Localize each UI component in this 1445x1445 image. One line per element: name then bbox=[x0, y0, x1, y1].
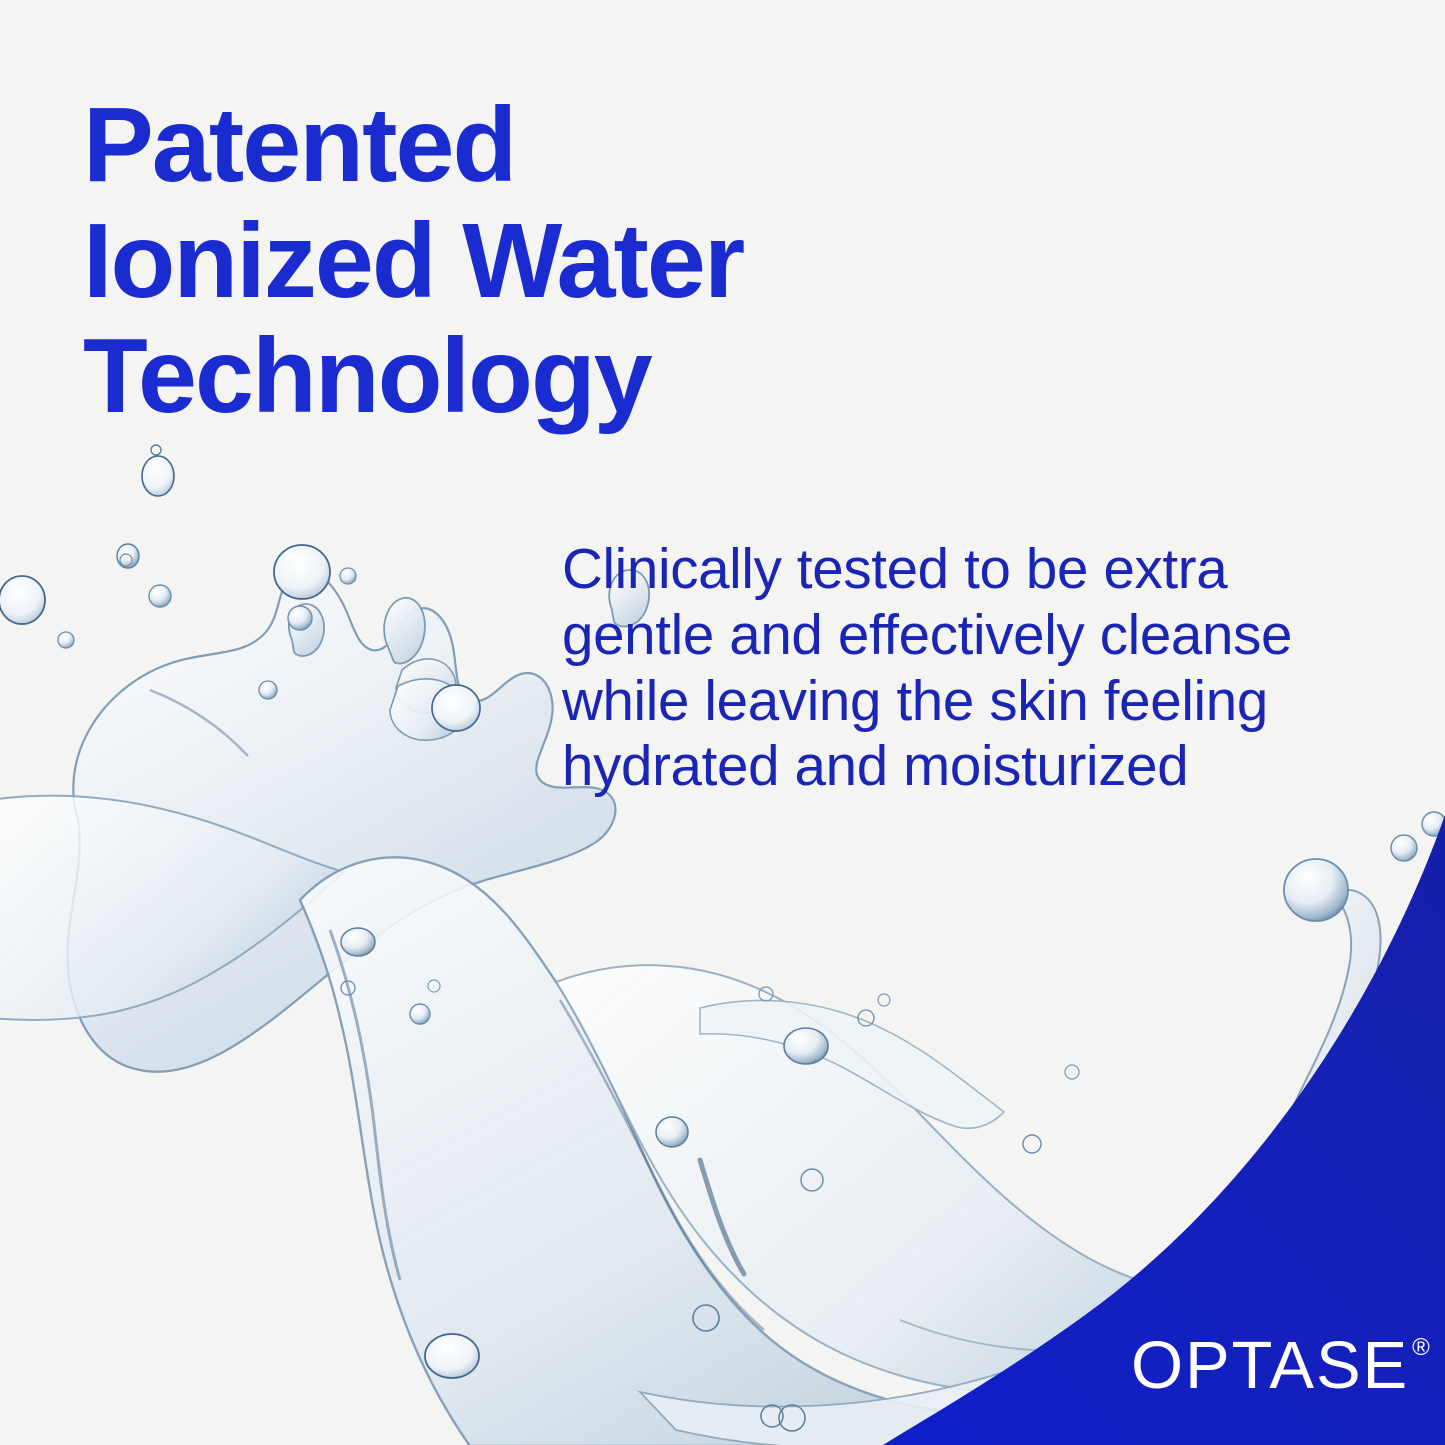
body-paragraph: Clinically tested to be extra gentle and… bbox=[562, 536, 1392, 799]
brand-wordmark: OPTASE bbox=[1131, 1332, 1409, 1399]
brand-logo: OPTASE ® bbox=[1131, 1332, 1430, 1399]
registered-trademark-icon: ® bbox=[1412, 1336, 1430, 1360]
marketing-banner: Patented Ionized Water Technology Clinic… bbox=[0, 0, 1445, 1445]
page-title: Patented Ionized Water Technology bbox=[83, 88, 983, 435]
